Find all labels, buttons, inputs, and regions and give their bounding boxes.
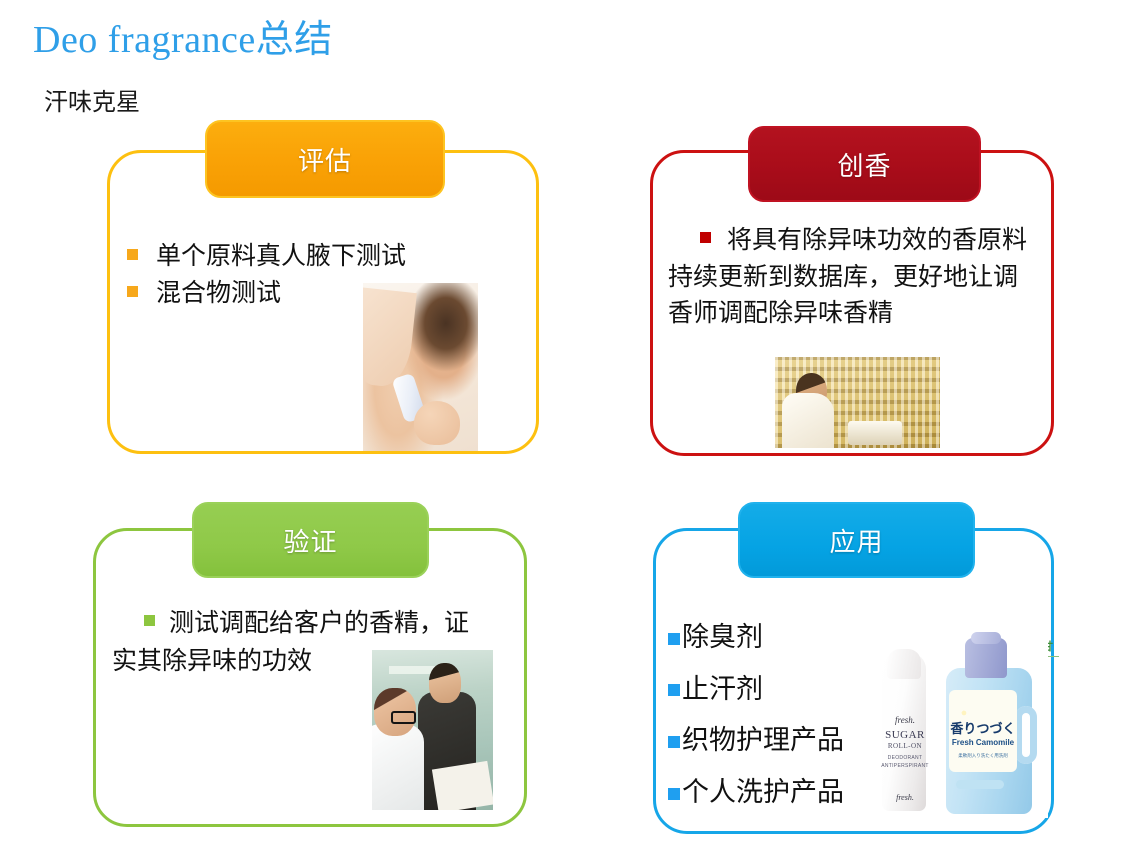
rollon-deodorant-product-photo: fresh. SUGAR ROLL-ON DEODORANT ANTIPERSP… xyxy=(878,645,932,815)
photo-hand-shape xyxy=(414,401,460,445)
list-item-label: 单个原料真人腋下测试 xyxy=(156,240,406,273)
list-item: 除臭剂 xyxy=(668,620,898,656)
product-name-label: SUGAR xyxy=(878,729,932,741)
bullet-square-icon xyxy=(668,788,680,800)
photo-bottom-band-shape xyxy=(956,780,1004,789)
list-item-label: 个人洗护产品 xyxy=(682,775,844,811)
card-validation-header-label: 验证 xyxy=(283,522,337,559)
photo-woman-body-shape xyxy=(372,724,424,810)
bullet-square-icon xyxy=(700,232,711,243)
detergent-sub-label: 柔軟剤入り洗たく用洗剤 xyxy=(946,752,1020,759)
detergent-en-label: Fresh Camomile xyxy=(946,738,1020,747)
photo-labcoat-shape xyxy=(782,393,834,448)
bullet-square-icon xyxy=(127,286,138,297)
card-application-header: 应用 xyxy=(738,502,975,578)
detergent-jp-label: 香りつづく xyxy=(948,718,1018,737)
list-item-label: 止汗剂 xyxy=(682,672,763,708)
card-creation-header: 创香 xyxy=(748,126,981,202)
photo-cap-shape xyxy=(965,638,1007,678)
photo-arm-shape xyxy=(363,287,417,388)
list-item: 单个原料真人腋下测试 xyxy=(127,240,427,273)
bullet-square-icon xyxy=(668,633,680,645)
bullet-square-icon xyxy=(127,249,138,260)
card-creation-paragraph-text: 将具有除异味功效的香原料持续更新到数据库，更好地让调香师调配除异味香精 xyxy=(668,226,1027,327)
bullet-square-icon xyxy=(144,615,155,626)
product-brand-label: fresh. xyxy=(878,715,932,725)
consumer-interview-photo xyxy=(372,650,493,810)
photo-man-head-shape xyxy=(429,663,461,703)
card-application-header-label: 应用 xyxy=(829,522,883,559)
list-item: 织物护理产品 xyxy=(668,723,898,759)
card-evaluation-header-label: 评估 xyxy=(298,141,352,178)
product-claim-label: DEODORANT ANTIPERSPIRANT xyxy=(878,755,932,770)
perfumer-at-organ-photo xyxy=(775,357,940,448)
bullet-square-icon xyxy=(668,736,680,748)
product-footer-label: fresh. xyxy=(878,793,932,802)
detergent-bottle-product-photo: 香りつづく Fresh Camomile 柔軟剤入り洗たく用洗剤 xyxy=(938,632,1048,818)
woman-applying-deodorant-photo xyxy=(363,283,478,451)
photo-cap-top-shape xyxy=(971,632,1001,644)
product-type-label: ROLL-ON xyxy=(878,742,932,750)
slide-subtitle: 汗味克星 xyxy=(44,82,140,117)
list-item: 止汗剂 xyxy=(668,672,898,708)
card-evaluation-header: 评估 xyxy=(205,120,445,198)
card-creation-header-label: 创香 xyxy=(837,146,891,183)
list-item-label: 除臭剂 xyxy=(682,620,763,656)
list-item: 个人洗护产品 xyxy=(668,775,898,811)
list-item-label: 混合物测试 xyxy=(156,277,281,310)
card-validation-header: 验证 xyxy=(192,502,429,578)
page-title: Deo fragrance总结 xyxy=(33,8,333,63)
photo-bench-shape xyxy=(848,421,902,445)
card-application-bullets: 除臭剂 止汗剂 织物护理产品 个人洗护产品 xyxy=(668,620,898,827)
photo-glasses-shape xyxy=(391,711,416,724)
list-item-label: 织物护理产品 xyxy=(682,723,844,759)
photo-cap-shape xyxy=(887,649,921,679)
photo-clipboard-shape xyxy=(432,761,493,810)
bullet-square-icon xyxy=(668,684,680,696)
slide-root: Deo fragrance总结 汗味克星 评估 单个原料真人腋下测试 混合物测试… xyxy=(0,0,1125,849)
card-creation-paragraph: 将具有除异味功效的香原料持续更新到数据库，更好地让调香师调配除异味香精 xyxy=(668,222,1040,332)
